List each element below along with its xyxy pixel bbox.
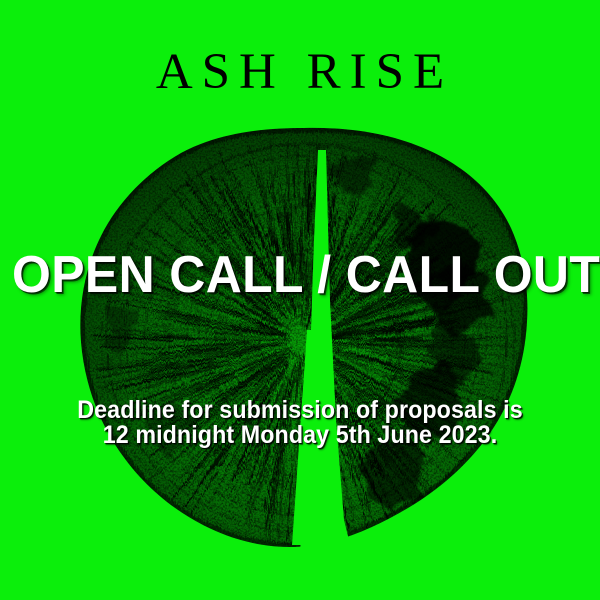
deadline-line-2: 12 midnight Monday 5th June 2023. (21, 423, 579, 448)
deadline-block: Deadline for submission of proposals is … (0, 398, 600, 448)
headline-open-call: OPEN CALL / CALL OUT (12, 249, 588, 301)
deadline-line-1: Deadline for submission of proposals is (21, 398, 579, 423)
page-title: ASH RISE (0, 47, 600, 98)
poster-canvas: ASH RISE OPEN CALL / CALL OUT Deadline f… (0, 0, 600, 600)
